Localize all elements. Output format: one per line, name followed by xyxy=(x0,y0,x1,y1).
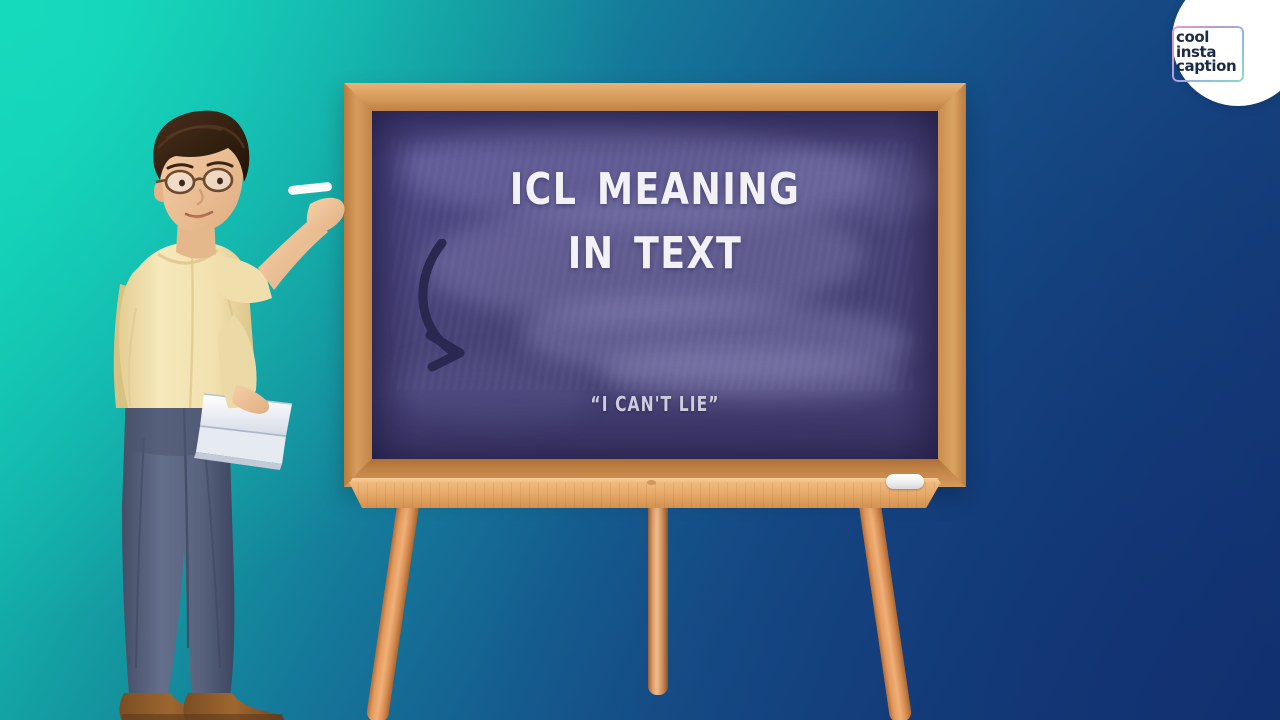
logo-line-3: caption xyxy=(1176,59,1252,74)
chalk-stick xyxy=(886,474,924,489)
poster-canvas: ICL Meaning in Text “I CAN'T LIE” xyxy=(0,0,1280,720)
chalk-ledge xyxy=(349,482,941,508)
board-title-line-1: ICL Meaning xyxy=(395,151,916,215)
ledge-wood-knot xyxy=(647,480,656,485)
board-title-line-2: in Text xyxy=(395,215,916,279)
easel-center-leg xyxy=(648,492,668,695)
logo-mark: cool insta caption xyxy=(1172,26,1252,84)
frame-top-rail xyxy=(344,83,966,111)
board-title: ICL Meaning in Text xyxy=(372,151,938,279)
board-subtitle: “I CAN'T LIE” xyxy=(412,392,899,416)
teacher-illustration xyxy=(96,108,346,720)
ledge-wood-grain xyxy=(349,482,941,508)
frame-right-rail xyxy=(938,83,966,487)
logo-wordmark: cool insta caption xyxy=(1176,30,1252,74)
frame-left-rail xyxy=(344,83,372,487)
teacher-chalk-hand xyxy=(307,198,345,234)
chalkboard-surface: ICL Meaning in Text “I CAN'T LIE” xyxy=(372,111,938,459)
chalk-in-hand xyxy=(288,182,333,196)
